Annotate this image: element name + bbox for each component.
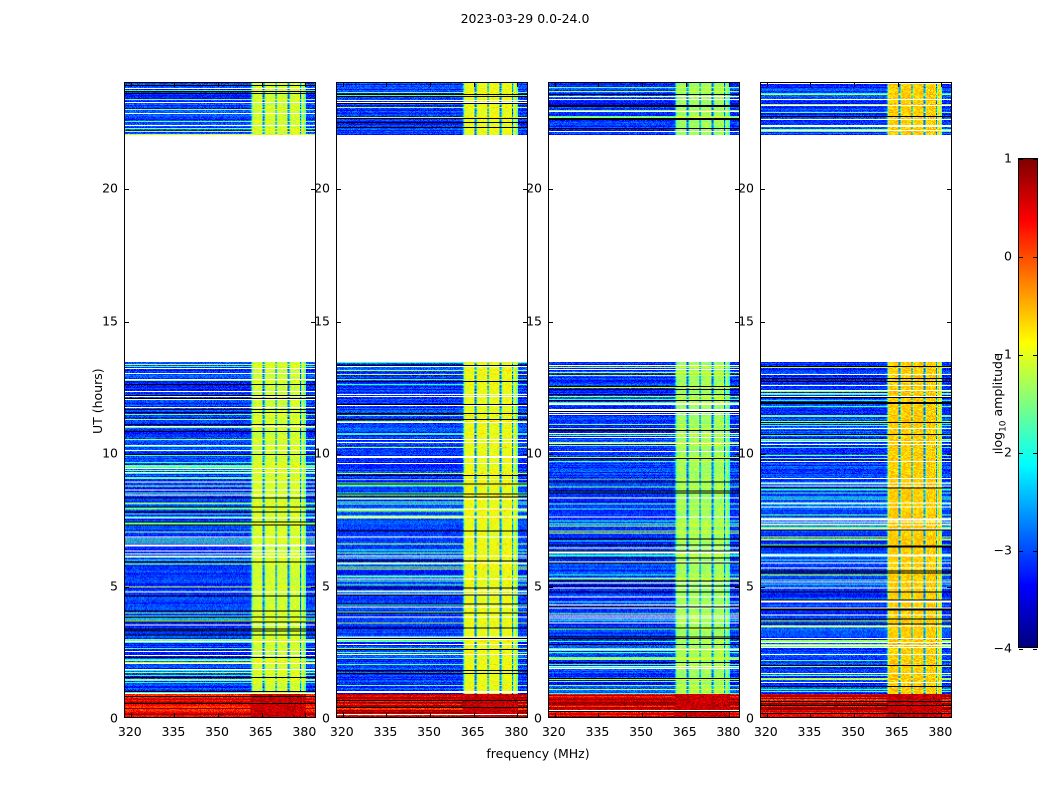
y-tick-right-yx-15 bbox=[947, 322, 951, 323]
y-axis-label: UT (hours) bbox=[90, 368, 105, 434]
x-tick-xy-365 bbox=[686, 713, 687, 717]
y-ticklabel-xx-15: 15 bbox=[94, 313, 118, 328]
x-ticklabel-xx-380: 380 bbox=[292, 724, 316, 739]
colorbar-gradient bbox=[1019, 159, 1037, 647]
x-tick-top-yy-365 bbox=[474, 83, 475, 87]
x-ticklabel-xx-365: 365 bbox=[249, 724, 273, 739]
x-tick-top-yy-350 bbox=[430, 83, 431, 87]
y-ticklabel-yy-20: 20 bbox=[306, 181, 330, 196]
y-tick-right-yx-20 bbox=[947, 189, 951, 190]
y-tick-yx-15 bbox=[761, 322, 765, 323]
x-tick-top-yx-335 bbox=[810, 83, 811, 87]
x-tick-xx-365 bbox=[262, 713, 263, 717]
y-ticklabel-yx-20: 20 bbox=[730, 181, 754, 196]
x-tick-yx-320 bbox=[767, 713, 768, 717]
x-tick-top-yx-365 bbox=[898, 83, 899, 87]
x-ticklabel-xy-350: 350 bbox=[629, 724, 653, 739]
colorbar-tick-0 bbox=[1019, 649, 1023, 650]
colorbar-label: log10 amplitude bbox=[990, 353, 1009, 451]
x-ticklabel-yx-365: 365 bbox=[885, 724, 909, 739]
colorbar-tick-right-3 bbox=[1033, 355, 1037, 356]
x-tick-xy-335 bbox=[598, 713, 599, 717]
colorbar-ticklabel-0: −4 bbox=[982, 641, 1012, 656]
y-ticklabel-yy-5: 5 bbox=[306, 578, 330, 593]
waterfall-image-xy bbox=[549, 83, 739, 717]
x-tick-top-xy-365 bbox=[686, 83, 687, 87]
y-tick-xx-15 bbox=[125, 322, 129, 323]
x-tick-top-yy-320 bbox=[343, 83, 344, 87]
x-tick-top-yy-335 bbox=[386, 83, 387, 87]
waterfall-canvas-xx bbox=[125, 83, 315, 717]
y-tick-yy-15 bbox=[337, 322, 341, 323]
colorbar-tick-2 bbox=[1019, 453, 1023, 454]
x-tick-top-xy-335 bbox=[598, 83, 599, 87]
x-tick-yy-320 bbox=[343, 713, 344, 717]
x-tick-top-xx-365 bbox=[262, 83, 263, 87]
x-tick-top-yx-320 bbox=[767, 83, 768, 87]
x-ticklabel-yx-320: 320 bbox=[754, 724, 778, 739]
y-tick-yy-20 bbox=[337, 189, 341, 190]
x-tick-yx-365 bbox=[898, 713, 899, 717]
y-tick-yx-20 bbox=[761, 189, 765, 190]
x-tick-top-yx-350 bbox=[854, 83, 855, 87]
y-ticklabel-xy-10: 10 bbox=[518, 446, 542, 461]
y-ticklabel-xy-5: 5 bbox=[518, 578, 542, 593]
x-ticklabel-yy-380: 380 bbox=[504, 724, 528, 739]
x-tick-yy-365 bbox=[474, 713, 475, 717]
x-tick-top-yy-380 bbox=[517, 83, 518, 87]
x-tick-yy-335 bbox=[386, 713, 387, 717]
x-ticklabel-xx-320: 320 bbox=[118, 724, 142, 739]
y-ticklabel-xx-20: 20 bbox=[94, 181, 118, 196]
spectrum-panel-xx[interactable]: XX, V12*V13=EA12*EA15 bbox=[124, 82, 316, 718]
x-ticklabel-yx-350: 350 bbox=[841, 724, 865, 739]
waterfall-canvas-xy bbox=[549, 83, 739, 717]
spectrum-panel-yy[interactable]: YY, V12*V13=EA12*EA15 bbox=[336, 82, 528, 718]
x-ticklabel-xx-335: 335 bbox=[162, 724, 186, 739]
x-tick-top-xy-350 bbox=[642, 83, 643, 87]
y-tick-yy-10 bbox=[337, 454, 341, 455]
y-ticklabel-yy-15: 15 bbox=[306, 313, 330, 328]
colorbar-label-tail: amplitude bbox=[990, 353, 1005, 420]
x-ticklabel-yx-380: 380 bbox=[928, 724, 952, 739]
x-ticklabel-yy-320: 320 bbox=[330, 724, 354, 739]
x-ticklabel-yy-365: 365 bbox=[461, 724, 485, 739]
x-tick-xx-335 bbox=[174, 713, 175, 717]
y-tick-xy-5 bbox=[549, 587, 553, 588]
waterfall-image-yy bbox=[337, 83, 527, 717]
y-tick-yx-10 bbox=[761, 454, 765, 455]
y-tick-xx-20 bbox=[125, 189, 129, 190]
x-tick-xy-320 bbox=[555, 713, 556, 717]
x-tick-xx-320 bbox=[131, 713, 132, 717]
figure-canvas: 2023-03-29 0.0-24.0 XX, V12*V13=EA12*EA1… bbox=[0, 0, 1050, 800]
x-tick-yx-335 bbox=[810, 713, 811, 717]
x-ticklabel-yy-335: 335 bbox=[374, 724, 398, 739]
colorbar[interactable] bbox=[1018, 158, 1038, 648]
x-ticklabel-xy-365: 365 bbox=[673, 724, 697, 739]
figure-suptitle: 2023-03-29 0.0-24.0 bbox=[0, 11, 1050, 26]
x-ticklabel-xy-335: 335 bbox=[586, 724, 610, 739]
colorbar-label-subscript: 10 bbox=[999, 420, 1009, 431]
x-tick-top-xx-320 bbox=[131, 83, 132, 87]
y-ticklabel-yx-15: 15 bbox=[730, 313, 754, 328]
y-ticklabel-xy-20: 20 bbox=[518, 181, 542, 196]
y-ticklabel-yy-10: 10 bbox=[306, 446, 330, 461]
x-ticklabel-xy-320: 320 bbox=[542, 724, 566, 739]
y-tick-xx-5 bbox=[125, 587, 129, 588]
colorbar-ticklabel-4: 0 bbox=[982, 249, 1012, 264]
colorbar-tick-right-2 bbox=[1033, 453, 1037, 454]
x-tick-top-xy-320 bbox=[555, 83, 556, 87]
colorbar-label-base: log bbox=[990, 432, 1005, 451]
x-tick-top-xx-380 bbox=[305, 83, 306, 87]
y-ticklabel-xx-0: 0 bbox=[94, 711, 118, 726]
colorbar-ticklabel-1: −3 bbox=[982, 543, 1012, 558]
y-tick-yy-5 bbox=[337, 587, 341, 588]
x-tick-xy-350 bbox=[642, 713, 643, 717]
y-tick-xx-10 bbox=[125, 454, 129, 455]
y-ticklabel-yx-5: 5 bbox=[730, 578, 754, 593]
waterfall-canvas-yx bbox=[761, 83, 951, 717]
x-tick-yy-350 bbox=[430, 713, 431, 717]
x-tick-top-xy-380 bbox=[729, 83, 730, 87]
colorbar-tick-3 bbox=[1019, 355, 1023, 356]
colorbar-tick-right-4 bbox=[1033, 257, 1037, 258]
y-tick-right-yx-10 bbox=[947, 454, 951, 455]
waterfall-image-xx bbox=[125, 83, 315, 717]
waterfall-image-yx bbox=[761, 83, 951, 717]
y-tick-xy-20 bbox=[549, 189, 553, 190]
y-tick-xy-10 bbox=[549, 454, 553, 455]
y-ticklabel-xy-15: 15 bbox=[518, 313, 542, 328]
spectrum-panel-yx[interactable]: YX, V12*V13=EA12*EA15 bbox=[760, 82, 952, 718]
y-ticklabel-xy-0: 0 bbox=[518, 711, 542, 726]
y-tick-right-yx-5 bbox=[947, 587, 951, 588]
spectrum-panel-xy[interactable]: XY, V12*V13=EA12*EA15 bbox=[548, 82, 740, 718]
colorbar-tick-4 bbox=[1019, 257, 1023, 258]
y-ticklabel-yx-10: 10 bbox=[730, 446, 754, 461]
x-axis-label: frequency (MHz) bbox=[124, 746, 952, 761]
y-ticklabel-yy-0: 0 bbox=[306, 711, 330, 726]
x-tick-yx-350 bbox=[854, 713, 855, 717]
colorbar-ticklabel-5: 1 bbox=[982, 151, 1012, 166]
waterfall-canvas-yy bbox=[337, 83, 527, 717]
y-tick-xy-15 bbox=[549, 322, 553, 323]
x-ticklabel-xy-380: 380 bbox=[716, 724, 740, 739]
x-ticklabel-yy-350: 350 bbox=[417, 724, 441, 739]
x-ticklabel-xx-350: 350 bbox=[205, 724, 229, 739]
colorbar-tick-right-1 bbox=[1033, 551, 1037, 552]
y-ticklabel-xx-5: 5 bbox=[94, 578, 118, 593]
x-tick-xx-350 bbox=[218, 713, 219, 717]
x-tick-top-xx-335 bbox=[174, 83, 175, 87]
y-ticklabel-xx-10: 10 bbox=[94, 446, 118, 461]
y-ticklabel-yx-0: 0 bbox=[730, 711, 754, 726]
x-ticklabel-yx-335: 335 bbox=[798, 724, 822, 739]
x-tick-top-yx-380 bbox=[941, 83, 942, 87]
colorbar-tick-right-0 bbox=[1033, 649, 1037, 650]
colorbar-tick-5 bbox=[1019, 159, 1023, 160]
colorbar-tick-right-5 bbox=[1033, 159, 1037, 160]
x-tick-yx-380 bbox=[941, 713, 942, 717]
y-tick-yx-5 bbox=[761, 587, 765, 588]
colorbar-tick-1 bbox=[1019, 551, 1023, 552]
x-tick-top-xx-350 bbox=[218, 83, 219, 87]
